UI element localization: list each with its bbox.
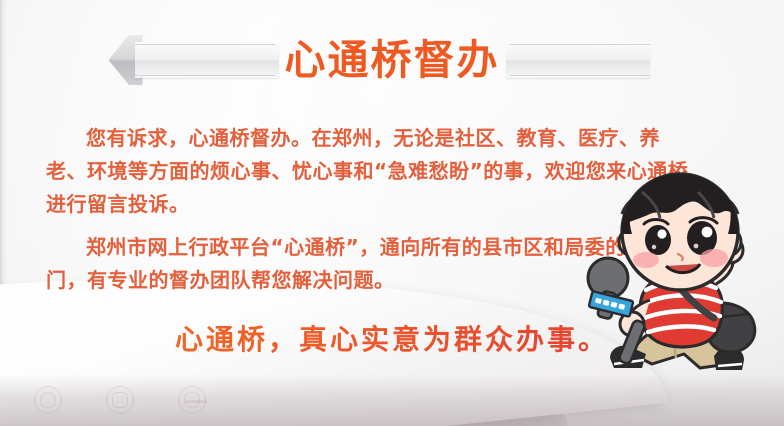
ribbon-tail-left-icon bbox=[109, 35, 279, 85]
ribbon: 心通桥督办 bbox=[109, 35, 676, 85]
reporter-boy-illustration bbox=[580, 168, 780, 380]
mascot-blush-right bbox=[700, 249, 728, 267]
poster-canvas: 心通桥督办 您有诉求，心通桥督办。在郑州，无论是社区、教育、医疗、养老、环境等方… bbox=[0, 0, 784, 426]
ribbon-tail-right-icon bbox=[506, 35, 676, 85]
header-banner: 心通桥督办 bbox=[0, 28, 784, 92]
mascot-blush-left bbox=[633, 252, 659, 268]
watermark-dash bbox=[185, 400, 207, 403]
seal-mark-1-icon bbox=[34, 386, 62, 414]
watermark-seals bbox=[34, 386, 206, 414]
seal-mark-2-icon bbox=[106, 386, 134, 414]
page-title: 心通桥督办 bbox=[279, 40, 506, 81]
